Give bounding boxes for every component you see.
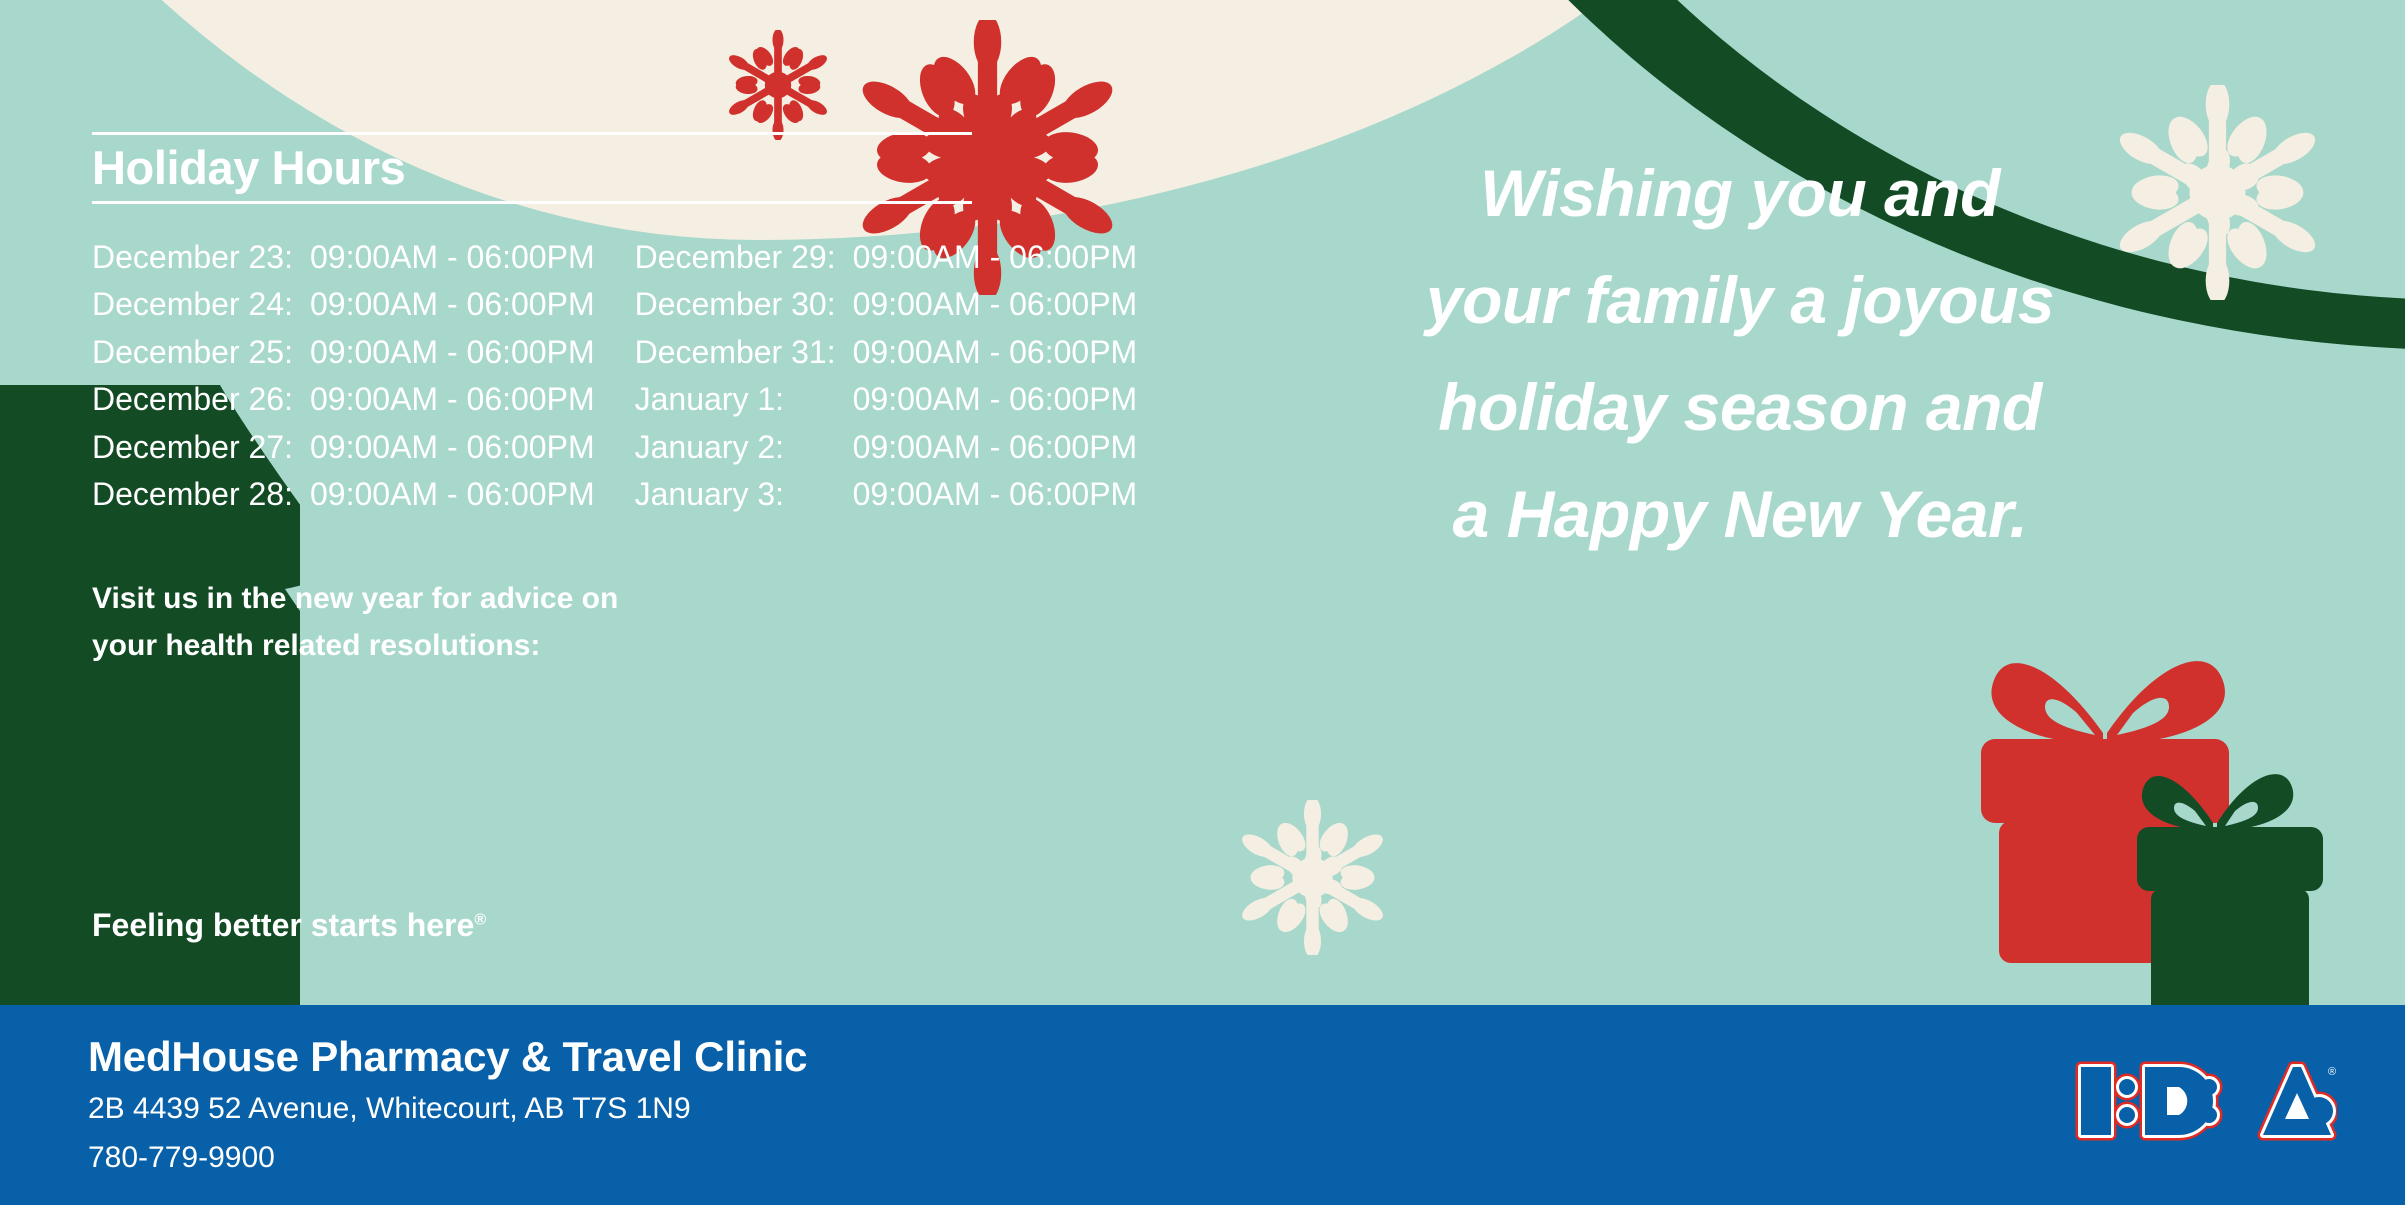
hours-time: 09:00AM - 06:00PM (310, 234, 595, 282)
hours-date: January 2: (635, 424, 853, 472)
hours-date: January 3: (635, 471, 853, 519)
footer-bar: MedHouse Pharmacy & Travel Clinic 2B 443… (0, 1005, 2405, 1205)
hours-time: 09:00AM - 06:00PM (310, 281, 595, 329)
hours-bottom-rule (92, 201, 972, 204)
hours-row: January 2: 09:00AM - 06:00PM (635, 424, 1138, 472)
ida-registered-mark: ® (2328, 1066, 2336, 1078)
hours-time: 09:00AM - 06:00PM (310, 376, 595, 424)
holiday-hours-block: Holiday Hours December 23: 09:00AM - 06:… (92, 132, 1122, 519)
hours-time: 09:00AM - 06:00PM (853, 376, 1138, 424)
hours-row: January 3: 09:00AM - 06:00PM (635, 471, 1138, 519)
hours-time: 09:00AM - 06:00PM (310, 329, 595, 377)
hours-time: 09:00AM - 06:00PM (853, 234, 1138, 282)
hours-date: December 27: (92, 424, 310, 472)
hours-date: December 23: (92, 234, 310, 282)
business-phone[interactable]: 780-779-9900 (88, 1133, 807, 1182)
greeting-line-4: a Happy New Year. (1320, 461, 2160, 568)
hours-time: 09:00AM - 06:00PM (853, 424, 1138, 472)
hours-columns: December 23: 09:00AM - 06:00PM December … (92, 234, 1122, 519)
hours-date: December 26: (92, 376, 310, 424)
business-address: 2B 4439 52 Avenue, Whitecourt, AB T7S 1N… (88, 1084, 807, 1133)
hours-date: December 30: (635, 281, 853, 329)
visit-note-line-2: your health related resolutions: (92, 622, 792, 669)
hours-date: January 1: (635, 376, 853, 424)
hours-date: December 24: (92, 281, 310, 329)
business-name: MedHouse Pharmacy & Travel Clinic (88, 1031, 807, 1084)
hours-row: December 29: 09:00AM - 06:00PM (635, 234, 1138, 282)
hours-row: December 27: 09:00AM - 06:00PM (92, 424, 595, 472)
hours-row: December 24: 09:00AM - 06:00PM (92, 281, 595, 329)
hours-row: January 1: 09:00AM - 06:00PM (635, 376, 1138, 424)
hours-time: 09:00AM - 06:00PM (853, 471, 1138, 519)
registered-mark: ® (474, 911, 486, 928)
greeting-line-1: Wishing you and (1320, 140, 2160, 247)
hours-row: December 26: 09:00AM - 06:00PM (92, 376, 595, 424)
tagline-text: Feeling better starts here (92, 907, 474, 943)
hours-date: December 31: (635, 329, 853, 377)
hours-time: 09:00AM - 06:00PM (310, 424, 595, 472)
hours-date: December 28: (92, 471, 310, 519)
hours-row: December 28: 09:00AM - 06:00PM (92, 471, 595, 519)
hours-row: December 31: 09:00AM - 06:00PM (635, 329, 1138, 377)
hours-date: December 29: (635, 234, 853, 282)
brand-tagline: Feeling better starts here® (92, 907, 486, 944)
hours-row: December 30: 09:00AM - 06:00PM (635, 281, 1138, 329)
business-info: MedHouse Pharmacy & Travel Clinic 2B 443… (88, 1031, 807, 1182)
visit-note: Visit us in the new year for advice on y… (92, 575, 792, 669)
visit-note-line-1: Visit us in the new year for advice on (92, 575, 792, 622)
hours-column-left: December 23: 09:00AM - 06:00PM December … (92, 234, 595, 519)
greeting-message: Wishing you and your family a joyous hol… (1320, 140, 2160, 568)
hours-time: 09:00AM - 06:00PM (310, 471, 595, 519)
holiday-greeting-card: Holiday Hours December 23: 09:00AM - 06:… (0, 0, 2405, 1205)
hours-row: December 25: 09:00AM - 06:00PM (92, 329, 595, 377)
hours-time: 09:00AM - 06:00PM (853, 329, 1138, 377)
holiday-hours-title: Holiday Hours (92, 135, 1122, 201)
hours-row: December 23: 09:00AM - 06:00PM (92, 234, 595, 282)
ida-logo: ® (2067, 1053, 2337, 1149)
greeting-line-3: holiday season and (1320, 354, 2160, 461)
hours-time: 09:00AM - 06:00PM (853, 281, 1138, 329)
hours-column-right: December 29: 09:00AM - 06:00PM December … (635, 234, 1138, 519)
hours-date: December 25: (92, 329, 310, 377)
greeting-line-2: your family a joyous (1320, 247, 2160, 354)
